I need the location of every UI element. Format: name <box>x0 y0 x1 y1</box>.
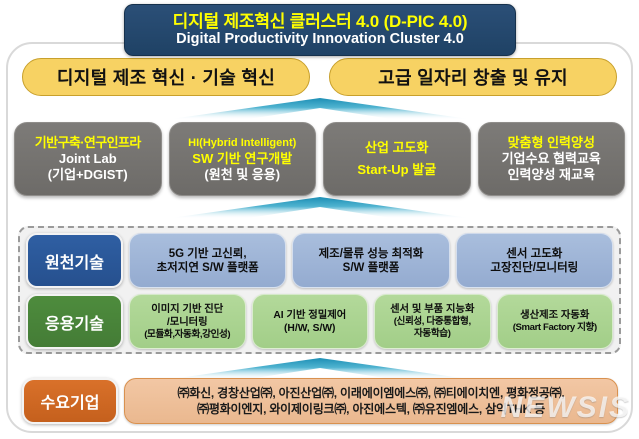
tech-row-source: 원천기술 5G 기반 고신뢰, 초저지연 S/W 플랫폼 제조/물류 성능 최적… <box>26 233 613 288</box>
demand-companies-label: 수요기업 <box>22 378 118 424</box>
tech-cell-line: 초저지연 S/W 플랫폼 <box>157 261 259 275</box>
strategy-box-infrastructure: 기반구축·연구인프라 Joint Lab (기업+DGIST) <box>14 122 162 196</box>
tech-cell-line: (모듈화,자동화,강인성) <box>144 329 230 341</box>
strategy-line: (기업+DGIST) <box>48 167 128 183</box>
tech-cell-5g-platform: 5G 기반 고신뢰, 초저지연 S/W 플랫폼 <box>129 233 286 288</box>
strategy-line: Joint Lab <box>59 151 117 167</box>
strategy-line: 산업 고도화 <box>365 137 428 159</box>
tech-cell-line: S/W 플랫폼 <box>343 261 400 275</box>
tech-cell-line: 센서 고도화 <box>506 247 562 261</box>
demand-companies-list: ㈜화신, 경창산업㈜, 아진산업㈜, 이래에이엠에스㈜, ㈜티에이치엔, 평화정… <box>124 378 618 424</box>
strategy-box-hi-software-rnd: HI(Hybrid Intelligent) SW 기반 연구개발 (원천 및 … <box>169 122 317 196</box>
tech-cell-ai-precision-control: AI 기반 정밀제어 (H/W, S/W) <box>252 294 369 349</box>
tech-label-source-technology: 원천기술 <box>26 233 123 288</box>
tech-cell-line: (Smart Factory 지향) <box>513 322 597 334</box>
goal-banner-row: 디지털 제조 혁신 · 기술 혁신 고급 일자리 창출 및 유지 <box>0 58 639 98</box>
tech-cell-line: (신뢰성, 다중통합형, <box>394 316 471 328</box>
tech-label-applied-technology: 응용기술 <box>26 294 123 349</box>
demand-companies-row: 수요기업 ㈜화신, 경창산업㈜, 아진산업㈜, 이래에이엠에스㈜, ㈜티에이치엔… <box>22 378 618 424</box>
technology-frame: 원천기술 5G 기반 고신뢰, 초저지연 S/W 플랫폼 제조/물류 성능 최적… <box>18 226 621 354</box>
tech-cell-line: (H/W, S/W) <box>284 322 335 335</box>
tech-cell-manufacturing-logistics-platform: 제조/물류 성능 최적화 S/W 플랫폼 <box>292 233 449 288</box>
strategy-line: Start-Up 발굴 <box>357 159 436 181</box>
tech-cell-line: 5G 기반 고신뢰, <box>169 247 247 261</box>
tech-cell-image-diagnosis: 이미지 기반 진단 /모니터링 (모듈화,자동화,강인성) <box>129 294 246 349</box>
goal-banner-digital-manufacturing: 디지털 제조 혁신 · 기술 혁신 <box>22 58 310 96</box>
tech-cell-line: 자동학습) <box>414 328 451 340</box>
tech-cell-line: 생산제조 자동화 <box>520 309 589 322</box>
tech-cell-sensor-component-intelligence: 센서 및 부품 지능화 (신뢰성, 다중통합형, 자동학습) <box>374 294 491 349</box>
strategy-row: 기반구축·연구인프라 Joint Lab (기업+DGIST) HI(Hybri… <box>14 122 625 196</box>
strategy-line: HI(Hybrid Intelligent) <box>188 135 296 151</box>
tech-cell-line: AI 기반 정밀제어 <box>273 309 346 322</box>
up-arrow-icon-top <box>170 97 470 123</box>
demand-companies-line-2: ㈜평화이엔지, 와이제이링크㈜, 아진에스텍, ㈜유진엠에스, 삼익THK 등 <box>197 401 545 417</box>
strategy-box-industry-advancement: 산업 고도화 Start-Up 발굴 <box>323 122 471 196</box>
strategy-line: 기반구축·연구인프라 <box>35 135 141 151</box>
tech-cell-line: /모니터링 <box>167 316 208 329</box>
strategy-line: (원천 및 응용) <box>204 167 280 183</box>
tech-cell-sensor-advancement: 센서 고도화 고장진단/모니터링 <box>456 233 613 288</box>
title-korean: 디지털 제조혁신 클러스터 4.0 (D-PIC 4.0) <box>173 12 468 31</box>
tech-row-applied: 응용기술 이미지 기반 진단 /모니터링 (모듈화,자동화,강인성) AI 기반… <box>26 294 613 349</box>
strategy-line: SW 기반 연구개발 <box>192 151 292 167</box>
strategy-line: 기업수요 협력교육 <box>502 151 601 167</box>
strategy-line: 맞춤형 인력양성 <box>508 135 595 151</box>
title-block: 디지털 제조혁신 클러스터 4.0 (D-PIC 4.0) Digital Pr… <box>124 4 516 56</box>
tech-cell-production-automation: 생산제조 자동화 (Smart Factory 지향) <box>497 294 614 349</box>
tech-cell-line: 고장진단/모니터링 <box>490 261 578 275</box>
strategy-line: 인력양성 재교육 <box>508 167 595 183</box>
title-english: Digital Productivity Innovation Cluster … <box>176 31 464 48</box>
tech-cell-line: 이미지 기반 진단 <box>151 303 223 316</box>
up-arrow-icon-middle <box>170 196 470 222</box>
tech-cell-line: 제조/물류 성능 최적화 <box>319 247 424 261</box>
tech-cell-line: 센서 및 부품 지능화 <box>390 303 474 316</box>
goal-banner-quality-jobs: 고급 일자리 창출 및 유지 <box>329 58 617 96</box>
strategy-box-workforce-training: 맞춤형 인력양성 기업수요 협력교육 인력양성 재교육 <box>478 122 626 196</box>
demand-companies-line-1: ㈜화신, 경창산업㈜, 아진산업㈜, 이래에이엠에스㈜, ㈜티에이치엔, 평화정… <box>177 385 564 401</box>
